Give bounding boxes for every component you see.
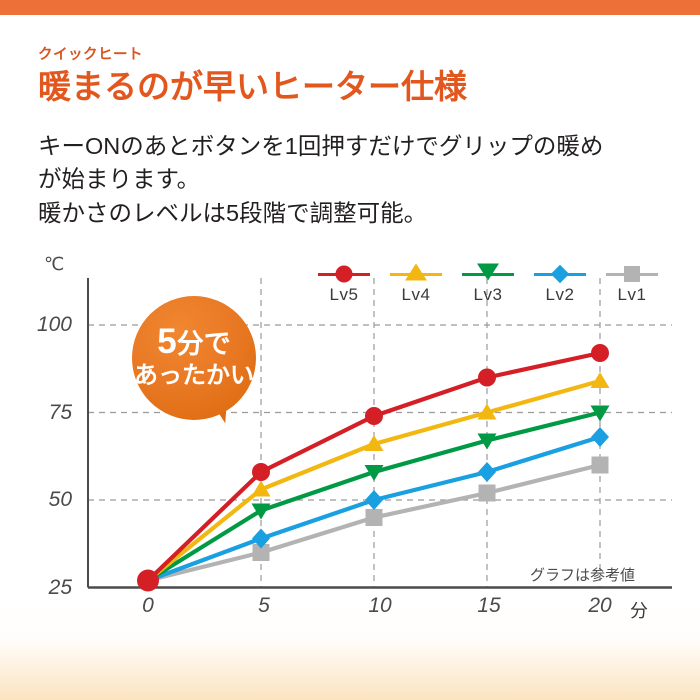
page-background: クイックヒート 暖まるのが早いヒーター仕様 キーONのあとボタンを1回押すだけで…: [0, 0, 700, 700]
data-point-lv5-0: [137, 570, 159, 592]
eyebrow-text: クイックヒート: [38, 48, 668, 64]
callout-text: 5分で あったかい: [132, 296, 256, 420]
body-line-3: 暖かさのレベルは5段階で調整可能。: [38, 197, 658, 230]
data-point-lv3-5: [252, 504, 271, 520]
chart-reference-note: グラフは参考値: [530, 564, 635, 585]
data-point-lv1-20: [592, 457, 609, 474]
callout-line-2: あったかい: [134, 363, 254, 388]
data-point-lv2-10: [365, 490, 383, 510]
data-point-lv4-20: [591, 372, 610, 388]
body-copy: キーONのあとボタンを1回押すだけでグリップの暖め が始まります。 暖かさのレベ…: [38, 130, 658, 230]
data-point-lv5-15: [478, 369, 496, 387]
callout-number: 5: [157, 322, 176, 361]
data-point-lv5-5: [252, 463, 270, 481]
callout-unit: 分で: [177, 329, 231, 359]
chart-plot-area: [0, 248, 700, 648]
data-point-lv1-10: [366, 509, 383, 526]
callout-bubble: 5分で あったかい: [132, 296, 256, 420]
body-line-1: キーONのあとボタンを1回押すだけでグリップの暖め: [38, 130, 658, 163]
header-block: クイックヒート 暖まるのが早いヒーター仕様: [38, 48, 668, 106]
top-accent-bar: [0, 0, 700, 15]
data-point-lv2-15: [478, 462, 496, 482]
page-title: 暖まるのが早いヒーター仕様: [38, 68, 668, 106]
data-point-lv1-15: [479, 485, 496, 502]
callout-line-1: 5分で: [157, 324, 230, 361]
temperature-line-chart: Lv5 Lv4 Lv3 Lv: [0, 248, 700, 648]
data-point-lv5-10: [365, 407, 383, 425]
data-point-lv5-20: [591, 344, 609, 362]
body-line-2: が始まります。: [38, 163, 658, 196]
data-point-lv2-20: [591, 427, 609, 447]
